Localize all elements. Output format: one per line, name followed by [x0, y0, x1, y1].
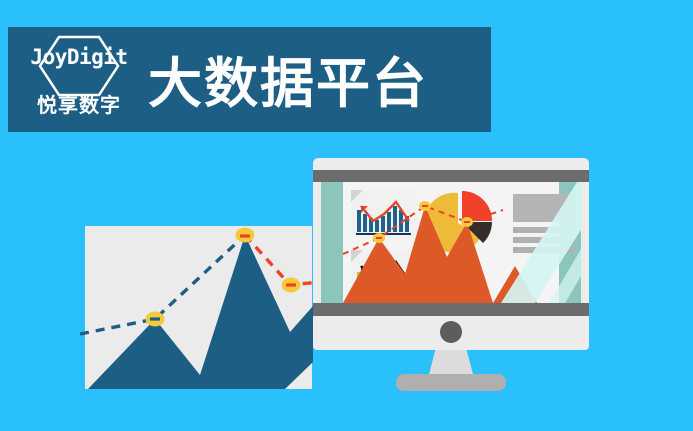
monitor-camera [440, 321, 462, 343]
monitor-screen [321, 182, 581, 303]
mountain-silhouette [85, 235, 313, 389]
logo-wordmark: JoyDigit [20, 47, 138, 68]
page-title: 大数据平台 [148, 39, 428, 129]
logo-subtitle: 悦享数字 [20, 95, 138, 117]
brand-logo: JoyDigit 悦享数字 [20, 33, 138, 127]
screen-left-strip [321, 182, 343, 303]
monitor-top-band [313, 170, 589, 182]
mountain-area-chart [0, 212, 320, 392]
desktop-monitor [313, 158, 589, 388]
mountain-area-chart-orange [343, 182, 559, 303]
banner-canvas: JoyDigit 悦享数字 大数据平台 [0, 0, 693, 431]
header-bar: JoyDigit 悦享数字 大数据平台 [8, 27, 491, 132]
monitor-bottom-band [313, 303, 589, 316]
monitor-stand-base [396, 374, 506, 391]
